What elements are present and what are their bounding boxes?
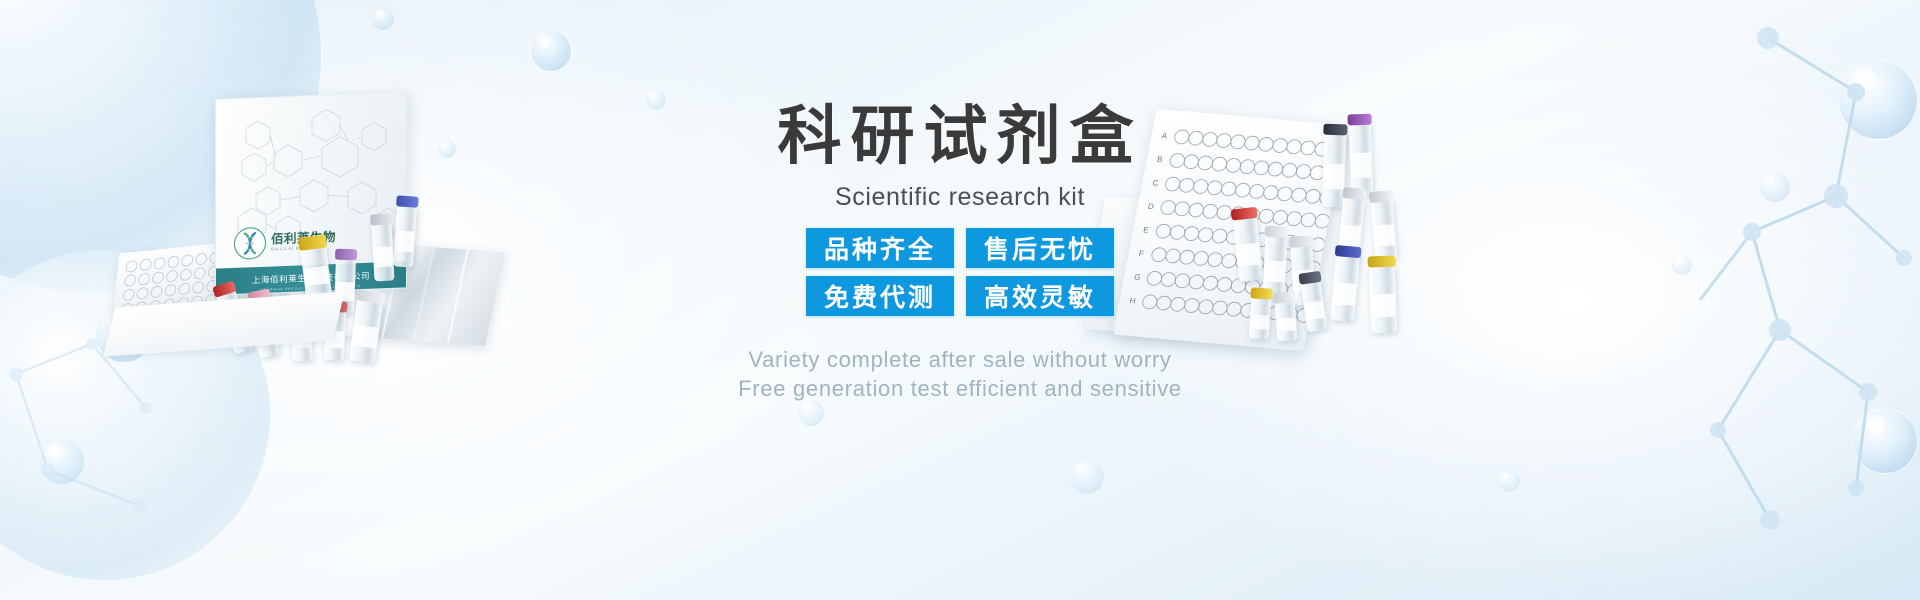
feature-badge-after-sale[interactable]: 售后无忧 xyxy=(966,228,1114,268)
banner-tagline: Variety complete after sale without worr… xyxy=(0,345,1920,404)
tagline-line-1: Variety complete after sale without worr… xyxy=(0,345,1920,374)
tagline-line-2: Free generation test efficient and sensi… xyxy=(0,374,1920,403)
bubble-icon xyxy=(1498,470,1520,492)
bubble-icon xyxy=(1852,408,1918,474)
page-subtitle: Scientific research kit xyxy=(0,183,1920,212)
bubble-icon xyxy=(530,30,572,72)
feature-badge-group: 品种齐全 售后无忧 免费代测 高效灵敏 xyxy=(0,228,1920,316)
bubble-icon xyxy=(372,8,394,30)
product-banner: 佰利莱生物 BAILILAI BIOLOGY 上海佰利莱生物科技有限公司 SHA… xyxy=(0,0,1920,600)
feature-badge-free-test[interactable]: 免费代测 xyxy=(806,276,954,316)
feature-badge-variety[interactable]: 品种齐全 xyxy=(806,228,954,268)
page-title: 科研试剂盒 xyxy=(0,104,1920,168)
bubble-icon xyxy=(1070,460,1104,494)
feature-badge-row: 免费代测 高效灵敏 xyxy=(806,276,1114,316)
feature-badge-row: 品种齐全 售后无忧 xyxy=(806,228,1114,268)
feature-badge-sensitive[interactable]: 高效灵敏 xyxy=(966,276,1114,316)
